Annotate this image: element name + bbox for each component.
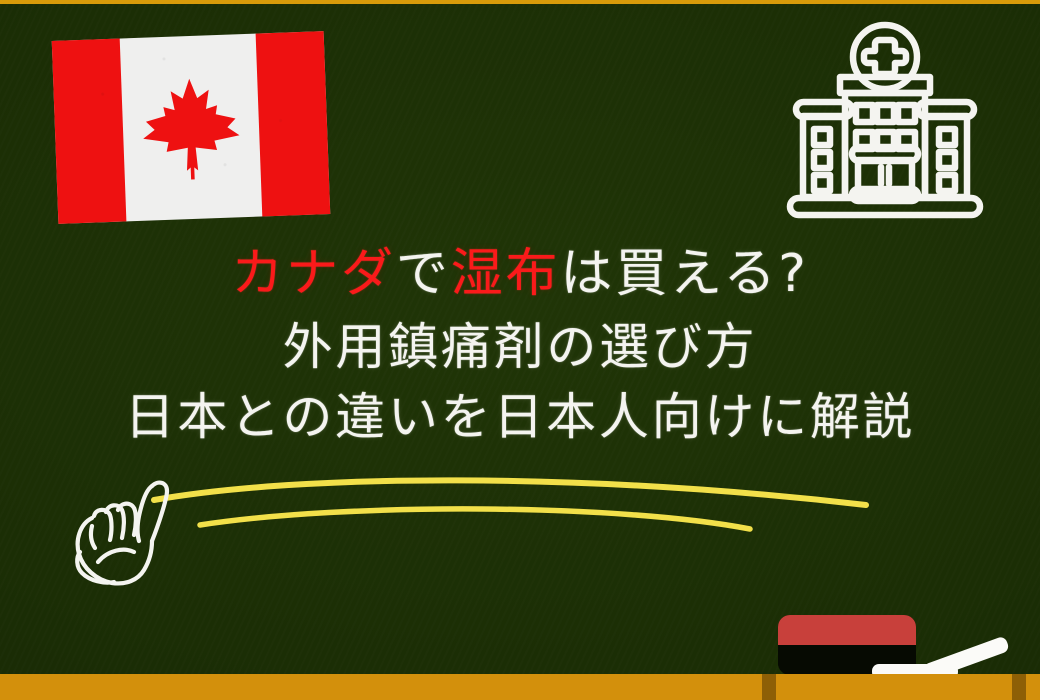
maple-leaf-icon [133,69,249,185]
title-line-2: 外用鎮痛剤の選び方 [0,322,1040,372]
hospital-window [814,129,830,145]
title-plain-kaeru: は買える? [560,244,808,304]
chalkboard-top-rail [0,0,1040,4]
hospital-window [877,105,894,122]
hospital-window [814,152,830,168]
medical-cross-icon [864,40,906,74]
hospital-base [790,198,980,215]
hospital-window [814,175,830,191]
page-title: カナダで湿布は買える? 外用鎮痛剤の選び方 日本との違いを日本人向けに解説 [0,248,1040,442]
underline-stroke-upper [154,480,866,505]
yellow-underline-swoosh [150,468,870,550]
ledge-seam [1012,674,1026,700]
hospital-entrance-canopy [852,147,918,161]
underline-stroke-lower [200,509,750,529]
hospital-window [939,175,955,191]
hospital-window [939,152,955,168]
eraser-red-top [778,615,916,645]
hospital-window [856,105,873,122]
chalkboard-thumbnail: カナダで湿布は買える? 外用鎮痛剤の選び方 日本との違いを日本人向けに解説 [0,0,1040,700]
title-line-3: 日本との違いを日本人向けに解説 [0,392,1040,442]
chalkboard-ledge [0,674,1040,700]
title-accent-shippu: 湿布 [451,244,561,304]
title-plain-de: で [396,244,451,304]
ledge-seam [762,674,776,700]
hospital-window [939,129,955,145]
title-accent-canada: カナダ [231,244,396,304]
hospital-building-icon [776,20,994,220]
canada-flag [52,31,331,224]
title-line-1: カナダで湿布は買える? [0,248,1040,300]
hospital-window [898,105,915,122]
pointing-hand-icon [66,472,196,594]
